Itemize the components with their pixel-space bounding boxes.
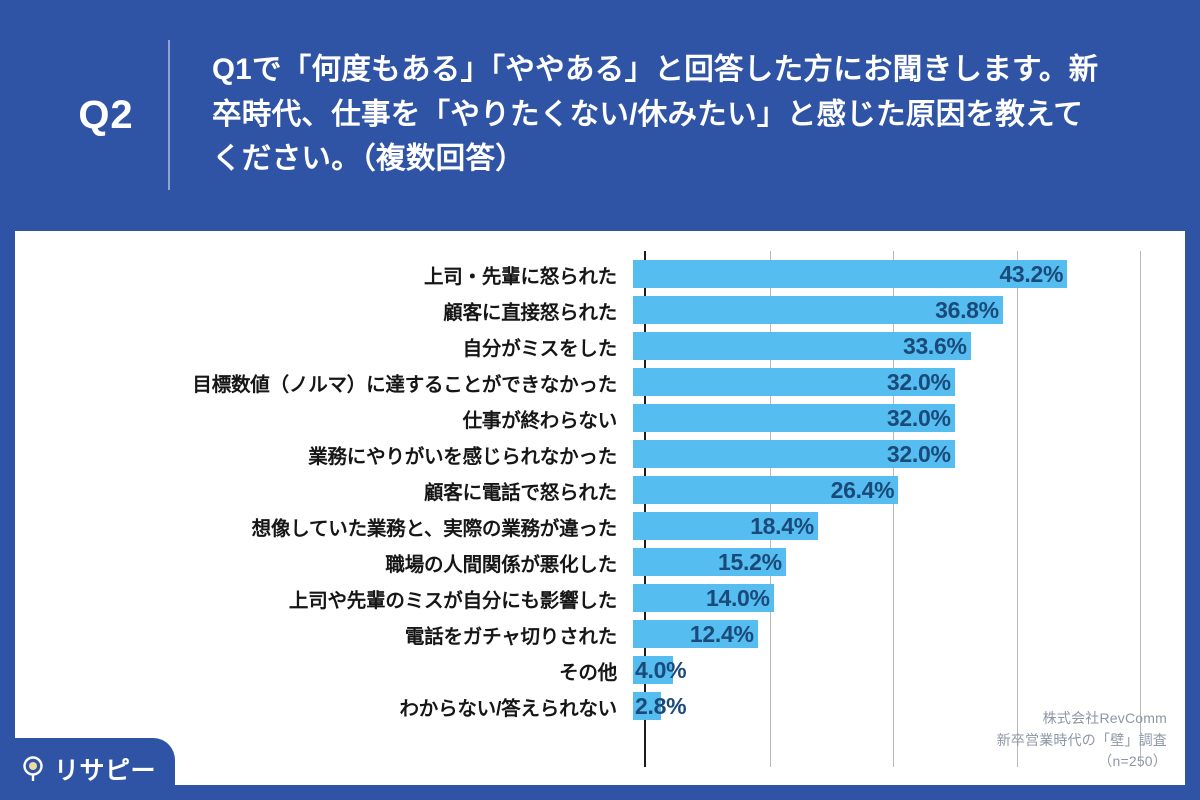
question-number: Q2 (48, 93, 164, 138)
bar-value-label: 12.4% (690, 621, 758, 648)
category-label: その他 (15, 656, 631, 685)
magnifier-icon (20, 755, 48, 783)
chart-row: 業務にやりがいを感じられなかった32.0% (15, 436, 1185, 472)
bar-track: 43.2% (631, 256, 1185, 292)
logo-text: リサピー (54, 751, 156, 787)
question-text: Q1で「何度もある」「ややある」と回答した方にお聞きします。新卒時代、仕事を「や… (212, 48, 1112, 182)
chart-row: 想像していた業務と、実際の業務が違った18.4% (15, 508, 1185, 544)
category-label: 職場の人間関係が悪化した (15, 548, 631, 577)
chart-row: 電話をガチャ切りされた12.4% (15, 616, 1185, 652)
bar-value-label: 2.8% (635, 693, 686, 720)
category-label: 上司・先輩に怒られた (15, 260, 631, 289)
credit-sample-size: （n=250） (997, 751, 1167, 773)
slide-root: Q2 Q1で「何度もある」「ややある」と回答した方にお聞きします。新卒時代、仕事… (0, 0, 1200, 800)
header-divider (168, 40, 170, 190)
category-label: 電話をガチャ切りされた (15, 620, 631, 649)
bar-track: 15.2% (631, 544, 1185, 580)
bar-track: 32.0% (631, 400, 1185, 436)
bar[interactable]: 12.4% (633, 620, 758, 648)
bar-track: 14.0% (631, 580, 1185, 616)
bar-value-label: 15.2% (718, 549, 786, 576)
bar-track: 33.6% (631, 328, 1185, 364)
bar-value-label: 33.6% (903, 333, 971, 360)
bar[interactable]: 18.4% (633, 512, 818, 540)
bar[interactable]: 36.8% (633, 296, 1003, 324)
question-header: Q2 Q1で「何度もある」「ややある」と回答した方にお聞きします。新卒時代、仕事… (0, 0, 1200, 230)
category-label: 業務にやりがいを感じられなかった (15, 440, 631, 469)
category-label: 目標数値（ノルマ）に達することができなかった (15, 368, 631, 397)
bar-value-label: 43.2% (999, 261, 1067, 288)
category-label: 仕事が終わらない (15, 404, 631, 433)
chart-row: 上司・先輩に怒られた43.2% (15, 256, 1185, 292)
bar-value-label: 32.0% (887, 369, 955, 396)
bar[interactable]: 32.0% (633, 368, 955, 396)
chart-row: 自分がミスをした33.6% (15, 328, 1185, 364)
bar[interactable]: 26.4% (633, 476, 898, 504)
chart-row: 職場の人間関係が悪化した15.2% (15, 544, 1185, 580)
bar[interactable]: 32.0% (633, 404, 955, 432)
category-label: わからない/答えられない (15, 692, 631, 721)
chart-row: 顧客に直接怒られた36.8% (15, 292, 1185, 328)
bar[interactable]: 33.6% (633, 332, 971, 360)
category-label: 自分がミスをした (15, 332, 631, 361)
bar-value-label: 26.4% (831, 477, 899, 504)
category-label: 顧客に電話で怒られた (15, 476, 631, 505)
chart-row: 仕事が終わらない32.0% (15, 400, 1185, 436)
chart-row: 上司や先輩のミスが自分にも影響した14.0% (15, 580, 1185, 616)
bar[interactable]: 2.8% (633, 692, 661, 720)
bar-value-label: 36.8% (935, 297, 1003, 324)
bar[interactable]: 15.2% (633, 548, 786, 576)
bar-track: 4.0% (631, 652, 1185, 688)
category-label: 想像していた業務と、実際の業務が違った (15, 512, 631, 541)
bar-value-label: 14.0% (706, 585, 774, 612)
bar[interactable]: 4.0% (633, 656, 673, 684)
bar-track: 32.0% (631, 436, 1185, 472)
bar-chart: 上司・先輩に怒られた43.2%顧客に直接怒られた36.8%自分がミスをした33.… (15, 231, 1185, 785)
chart-row: 目標数値（ノルマ）に達することができなかった32.0% (15, 364, 1185, 400)
bar[interactable]: 43.2% (633, 260, 1067, 288)
bar-track: 36.8% (631, 292, 1185, 328)
chart-panel: 上司・先輩に怒られた43.2%顧客に直接怒られた36.8%自分がミスをした33.… (15, 231, 1185, 785)
credit-company: 株式会社RevComm (997, 708, 1167, 730)
bar-value-label: 4.0% (635, 657, 686, 684)
credit-survey: 新卒営業時代の「壁」調査 (997, 730, 1167, 752)
category-label: 顧客に直接怒られた (15, 296, 631, 325)
logo[interactable]: リサピー (0, 738, 175, 800)
bar-value-label: 32.0% (887, 405, 955, 432)
bar[interactable]: 32.0% (633, 440, 955, 468)
bar-track: 18.4% (631, 508, 1185, 544)
bar-track: 32.0% (631, 364, 1185, 400)
chart-rows: 上司・先輩に怒られた43.2%顧客に直接怒られた36.8%自分がミスをした33.… (15, 256, 1185, 724)
bar-value-label: 32.0% (887, 441, 955, 468)
bar-value-label: 18.4% (750, 513, 818, 540)
bar[interactable]: 14.0% (633, 584, 774, 612)
credit-block: 株式会社RevComm 新卒営業時代の「壁」調査 （n=250） (997, 708, 1167, 773)
chart-row: その他4.0% (15, 652, 1185, 688)
category-label: 上司や先輩のミスが自分にも影響した (15, 584, 631, 613)
bar-track: 26.4% (631, 472, 1185, 508)
chart-row: 顧客に電話で怒られた26.4% (15, 472, 1185, 508)
bar-track: 12.4% (631, 616, 1185, 652)
